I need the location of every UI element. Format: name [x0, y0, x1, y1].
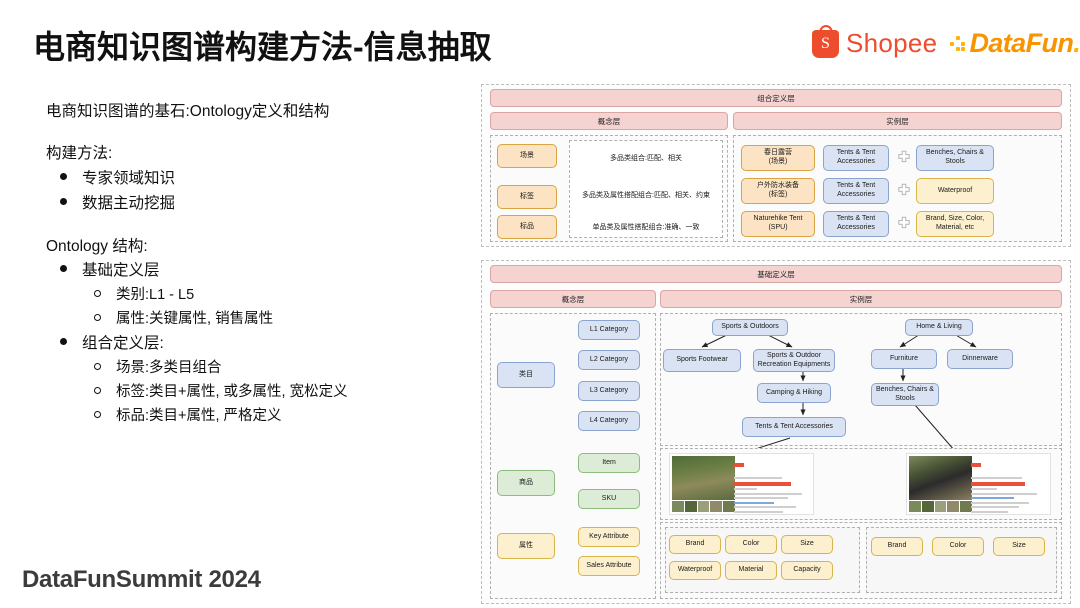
- attr-left-material[interactable]: Material: [725, 561, 777, 580]
- category-level-4[interactable]: L4 Category: [578, 411, 640, 431]
- list-item: 场景:多类目组合: [116, 356, 456, 380]
- method-heading: 构建方法:: [46, 142, 456, 165]
- instance-left-2[interactable]: Naturehike Tent (SPU): [741, 211, 815, 237]
- product-screenshot-left[interactable]: [669, 453, 814, 515]
- ontology-group-1-child-2: 标品:类目+属性, 严格定义: [116, 408, 282, 424]
- concept-tag-spu[interactable]: 标品: [497, 215, 557, 239]
- page-title: 电商知识图谱构建方法-信息抽取: [33, 22, 492, 68]
- bullet-ring-icon: [94, 387, 101, 394]
- product-item[interactable]: Item: [578, 453, 640, 473]
- attr-right-size[interactable]: Size: [993, 537, 1045, 556]
- shopee-mark-letter: S: [821, 36, 830, 52]
- shopee-bag-handle: [819, 25, 832, 36]
- body-text-block: 电商知识图谱的基石:Ontology定义和结构 构建方法: 专家领域知识 数据主…: [46, 100, 456, 429]
- datafun-wordmark: DataFun.: [969, 28, 1080, 59]
- ontology-group-1-label: 组合定义层:: [82, 335, 164, 352]
- diagram-bottom-concept-header: 概念层: [490, 290, 656, 308]
- attr-left-waterproof[interactable]: Waterproof: [669, 561, 721, 580]
- plus-icon: [897, 183, 911, 197]
- product-info-left: [734, 456, 811, 512]
- ontology-group-1-child-1: 标签:类目+属性, 或多属性, 宽松定义: [116, 384, 348, 400]
- concept-desc-label: 多品类及属性搭配组合:匹配、相关、约束: [570, 190, 722, 200]
- tree-right-child-1[interactable]: Dinnerware: [947, 349, 1013, 369]
- tree-left-child-0[interactable]: Sports Footwear: [663, 349, 741, 372]
- bullet-ring-icon: [94, 314, 101, 321]
- concept-group-attribute[interactable]: 属性: [497, 533, 555, 559]
- attr-left-brand[interactable]: Brand: [669, 535, 721, 554]
- concept-tag-label[interactable]: 标签: [497, 185, 557, 209]
- bullet-ring-icon: [94, 363, 101, 370]
- instance-mid-0[interactable]: Tents & Tent Accessories: [823, 145, 889, 171]
- tree-left-leaf[interactable]: Tents & Tent Accessories: [742, 417, 846, 437]
- ontology-heading: Ontology 结构:: [46, 235, 456, 258]
- bullet-dot-icon: [60, 338, 67, 345]
- concept-group-product[interactable]: 商品: [497, 470, 555, 496]
- product-info-right: [971, 456, 1048, 512]
- datafun-logo: DataFun.: [950, 28, 1080, 59]
- attr-left-capacity[interactable]: Capacity: [781, 561, 833, 580]
- instance-right-2[interactable]: Brand, Size, Color, Material, etc: [916, 211, 994, 237]
- diagram-top-concept-header: 概念层: [490, 112, 728, 130]
- category-level-3[interactable]: L3 Category: [578, 381, 640, 401]
- tree-left-root[interactable]: Sports & Outdoors: [712, 319, 788, 336]
- ontology-group-1-child-0: 场景:多类目组合: [116, 360, 222, 376]
- shopee-bag-icon: S: [812, 30, 839, 58]
- bullet-dot-icon: [60, 265, 67, 272]
- instance-mid-1[interactable]: Tents & Tent Accessories: [823, 178, 889, 204]
- logo-group: S Shopee DataFun.: [812, 28, 1080, 59]
- datafun-word-text: DataFun: [969, 28, 1073, 58]
- plus-icon: [897, 216, 911, 230]
- list-item: 标品:类目+属性, 严格定义: [116, 404, 456, 428]
- lead-paragraph: 电商知识图谱的基石:Ontology定义和结构: [46, 100, 456, 123]
- ontology-group-0-label: 基础定义层: [82, 262, 160, 279]
- product-screenshot-right[interactable]: [906, 453, 1051, 515]
- tree-right-grandchild[interactable]: Benches, Chairs & Stools: [871, 383, 939, 406]
- tree-left-grandchild[interactable]: Camping & Hiking: [757, 383, 831, 403]
- concept-group-category[interactable]: 类目: [497, 362, 555, 388]
- concept-desc-spu: 单品类及属性搭配组合:准确、一致: [572, 222, 720, 232]
- product-thumbnail-strip-right: [909, 501, 972, 512]
- product-image-left: [672, 456, 735, 500]
- instance-mid-2[interactable]: Tents & Tent Accessories: [823, 211, 889, 237]
- method-item-1: 数据主动挖掘: [82, 195, 175, 212]
- list-item: 数据主动挖掘: [82, 191, 456, 216]
- tree-right-child-0[interactable]: Furniture: [871, 349, 937, 369]
- category-level-2[interactable]: L2 Category: [578, 350, 640, 370]
- plus-icon: [897, 150, 911, 164]
- product-thumbnail-strip-left: [672, 501, 735, 512]
- instance-right-0[interactable]: Benches, Chairs & Stools: [916, 145, 994, 171]
- list-item: 基础定义层: [82, 258, 456, 283]
- datafun-word-dot: .: [1073, 28, 1080, 58]
- diagram-top-title: 组合定义层: [490, 89, 1062, 107]
- attr-left-color[interactable]: Color: [725, 535, 777, 554]
- list-item: 标签:类目+属性, 或多属性, 宽松定义: [116, 380, 384, 404]
- shopee-logo: S Shopee: [812, 28, 937, 59]
- product-sku[interactable]: SKU: [578, 489, 640, 509]
- ontology-group-0-child-0: 类别:L1 - L5: [116, 287, 194, 303]
- shopee-wordmark: Shopee: [846, 28, 937, 59]
- instance-left-1[interactable]: 户外防水装备 (标签): [741, 178, 815, 204]
- ontology-group-0-child-1: 属性:关键属性, 销售属性: [116, 311, 273, 327]
- bullet-dot-icon: [60, 173, 67, 180]
- concept-desc-scene: 多品类组合:匹配、相关: [572, 153, 720, 163]
- list-item: 专家领域知识: [82, 166, 456, 191]
- attribute-sales[interactable]: Sales Attribute: [578, 556, 640, 576]
- category-level-1[interactable]: L1 Category: [578, 320, 640, 340]
- tree-left-child-1[interactable]: Sports & Outdoor Recreation Equipments: [753, 349, 835, 372]
- bullet-ring-icon: [94, 411, 101, 418]
- diagram-top-instance-header: 实例层: [733, 112, 1062, 130]
- concept-tag-scene[interactable]: 场景: [497, 144, 557, 168]
- datafun-dots-icon: [950, 36, 965, 51]
- instance-right-1[interactable]: Waterproof: [916, 178, 994, 204]
- list-item: 类别:L1 - L5: [116, 283, 456, 307]
- tree-right-root[interactable]: Home & Living: [905, 319, 973, 336]
- bullet-ring-icon: [94, 290, 101, 297]
- attr-left-size[interactable]: Size: [781, 535, 833, 554]
- product-image-right: [909, 456, 972, 500]
- list-item: 组合定义层:: [82, 331, 456, 356]
- list-item: 属性:关键属性, 销售属性: [116, 307, 456, 331]
- diagram-bottom-title: 基础定义层: [490, 265, 1062, 283]
- instance-left-0[interactable]: 春日露营 (场景): [741, 145, 815, 171]
- slide-root: 电商知识图谱构建方法-信息抽取 S Shopee DataFun. 电商知识图谱…: [0, 0, 1080, 608]
- diagram-bottom-instance-header: 实例层: [660, 290, 1062, 308]
- attribute-key[interactable]: Key Attribute: [578, 527, 640, 547]
- method-item-0: 专家领域知识: [82, 170, 175, 187]
- attr-right-brand[interactable]: Brand: [871, 537, 923, 556]
- attr-right-color[interactable]: Color: [932, 537, 984, 556]
- footer-brand: DataFunSummit 2024: [22, 566, 261, 594]
- bullet-dot-icon: [60, 198, 67, 205]
